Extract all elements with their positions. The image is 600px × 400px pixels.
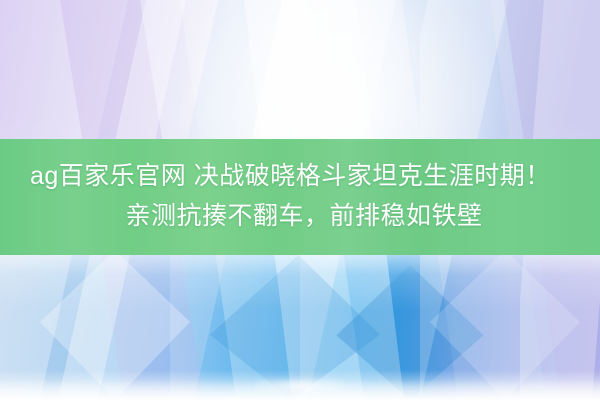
facet-diamond [210,255,380,400]
caption-line-1: ag百家乐官网 决战破晓格斗家坦克生涯时期！ [30,156,551,196]
facet-diamond [430,250,580,400]
facet-diamond [330,265,490,400]
facet-diamond [40,250,190,400]
background-gradient-bottom [0,255,600,400]
banner-image: ag百家乐官网 决战破晓格斗家坦克生涯时期！ 亲测抗揍不翻车，前排稳如铁壁 [0,0,600,400]
bottom-fade [0,370,600,400]
caption-line-2: 亲测抗揍不翻车，前排稳如铁壁 [125,196,482,236]
background-bottom-shade [0,255,600,400]
caption-band: ag百家乐官网 决战破晓格斗家坦克生涯时期！ 亲测抗揍不翻车，前排稳如铁壁 [0,139,600,255]
watermark-blur [255,378,345,394]
